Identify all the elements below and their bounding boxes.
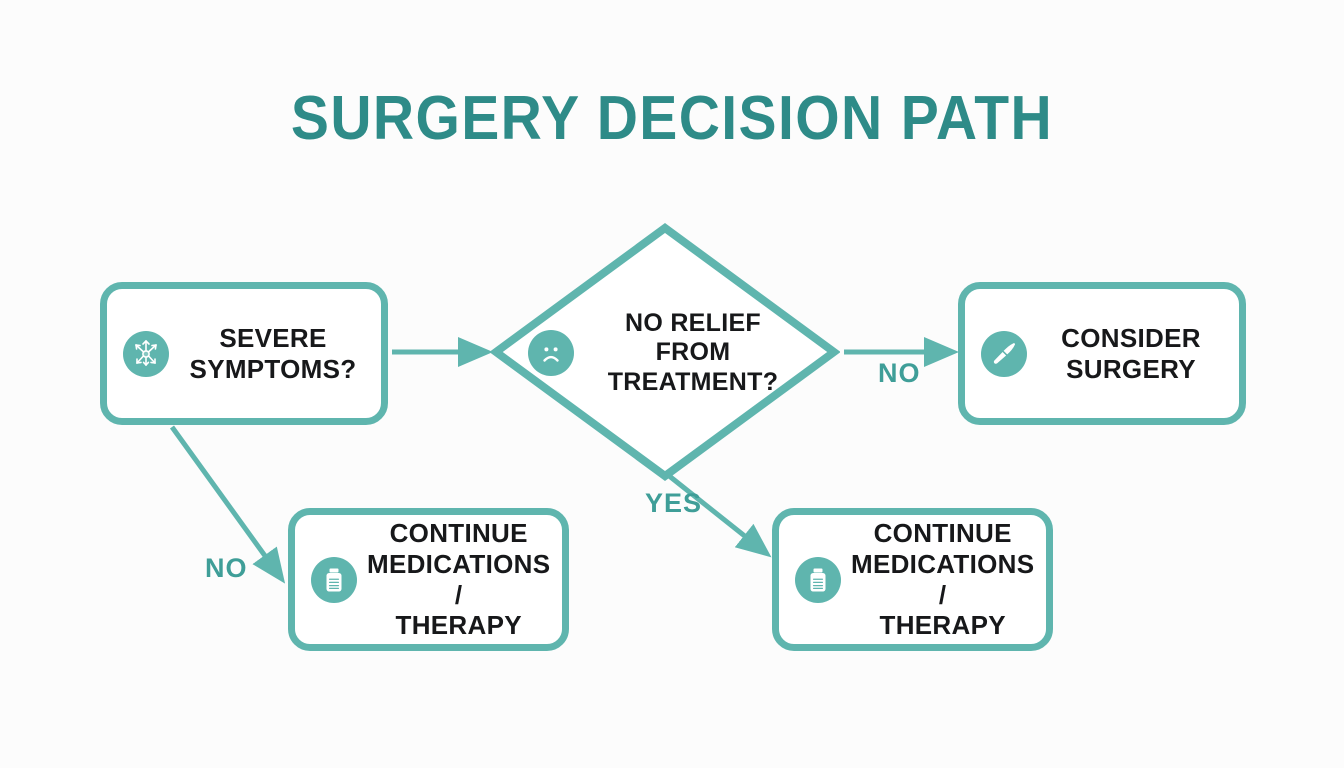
- node-label-consider-surgery: CONSIDER SURGERY: [1037, 323, 1239, 384]
- node-no-relief[interactable]: NO RELIEF FROM TREATMENT?: [490, 222, 840, 482]
- node-continue-medications-right[interactable]: CONTINUE MEDICATIONS / THERAPY: [772, 508, 1053, 651]
- node-consider-surgery[interactable]: CONSIDER SURGERY: [958, 282, 1246, 425]
- node-label-severe-symptoms: SEVERE SYMPTOMS?: [179, 323, 381, 384]
- medicine-bottle-icon: [311, 557, 357, 603]
- node-label-continue-right: CONTINUE MEDICATIONS / THERAPY: [851, 518, 1048, 641]
- edge-label-symptoms-no: NO: [205, 553, 248, 584]
- node-label-continue-left: CONTINUE MEDICATIONS / THERAPY: [367, 518, 564, 641]
- node-continue-medications-left[interactable]: CONTINUE MEDICATIONS / THERAPY: [288, 508, 569, 651]
- node-label-no-relief: NO RELIEF FROM TREATMENT?: [584, 309, 802, 398]
- edge-label-relief-yes: YES: [645, 488, 702, 519]
- scalpel-icon: [981, 331, 1027, 377]
- diamond-content: NO RELIEF FROM TREATMENT?: [528, 316, 802, 390]
- node-severe-symptoms[interactable]: SEVERE SYMPTOMS?: [100, 282, 388, 425]
- medicine-bottle-icon: [795, 557, 841, 603]
- flowchart-canvas: SURGERY DECISION PATH: [0, 0, 1344, 768]
- neuron-icon: [123, 331, 169, 377]
- edge-label-relief-no: NO: [878, 358, 921, 389]
- sad-face-icon: [528, 330, 574, 376]
